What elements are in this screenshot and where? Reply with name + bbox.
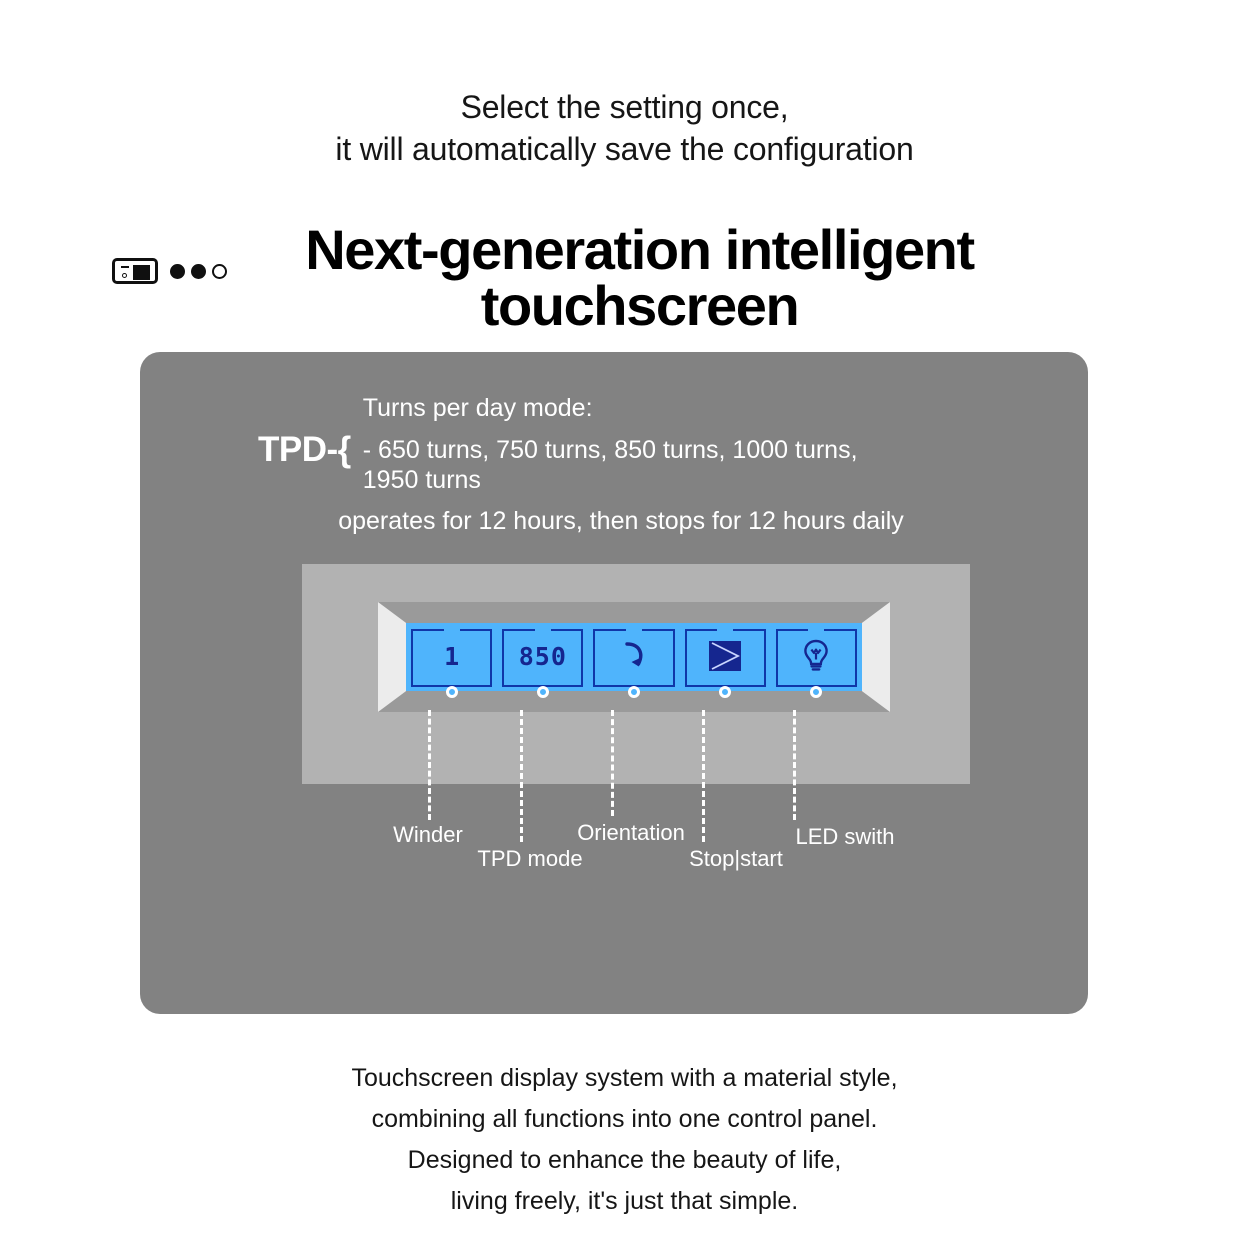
dot-filled-1 [170, 264, 185, 279]
touchscreen[interactable]: 1 850 [406, 623, 862, 691]
footer-line-2: combining all functions into one control… [0, 1099, 1249, 1140]
callout-label-stop-start: Stop|start [689, 846, 783, 872]
display-chip-icon [112, 258, 158, 284]
callout-label-orientation: Orientation [577, 820, 685, 846]
brand-mark [112, 258, 227, 284]
duty-cycle-text: operates for 12 hours, then stops for 12… [140, 507, 1088, 536]
button-winder[interactable]: 1 [406, 623, 497, 691]
button-orientation[interactable] [588, 623, 679, 691]
button-tpd-mode[interactable]: 850 [497, 623, 588, 691]
callout-label-tpd-mode: TPD mode [477, 846, 582, 872]
digit-one-icon: 1 [444, 644, 459, 669]
subtitle-line-2: it will automatically save the configura… [0, 128, 1249, 170]
callout-label-led-switch: LED swith [795, 824, 894, 850]
footer-line-4: living freely, it's just that simple. [0, 1181, 1249, 1222]
footer-line-3: Designed to enhance the beauty of life, [0, 1140, 1249, 1181]
screen-bezel: 1 850 [378, 602, 890, 712]
lightbulb-icon [801, 638, 831, 674]
tpd-tag: TPD-{ [258, 392, 351, 470]
dot-hollow-3 [212, 264, 227, 279]
subtitle-block: Select the setting once, it will automat… [0, 86, 1249, 170]
chip-dash [121, 266, 129, 268]
callout-node-winder [446, 686, 458, 698]
callout-node-led-switch [810, 686, 822, 698]
device-body: 1 850 [302, 564, 970, 784]
feature-card: TPD-{ Turns per day mode: - 650 turns, 7… [140, 352, 1088, 1014]
callout-node-stop-start [719, 686, 731, 698]
button-led-switch[interactable] [771, 623, 862, 691]
tpd-spec-block: TPD-{ Turns per day mode: - 650 turns, 7… [258, 392, 1048, 496]
tpd-values: - 650 turns, 750 turns, 850 turns, 1000 … [363, 435, 883, 496]
footer-line-1: Touchscreen display system with a materi… [0, 1058, 1249, 1099]
dot-filled-2 [191, 264, 206, 279]
leader-line-led-switch [793, 710, 796, 820]
leader-line-winder [428, 710, 431, 820]
callout-node-tpd-mode [537, 686, 549, 698]
chip-dot [122, 273, 127, 278]
tpd-text: Turns per day mode: - 650 turns, 750 tur… [351, 392, 883, 496]
leader-line-tpd-mode [520, 710, 523, 842]
headline-line-2: touchscreen [30, 278, 1249, 334]
callout-node-orientation [628, 686, 640, 698]
leader-line-stop-start [702, 710, 705, 842]
leader-line-orientation [611, 710, 614, 816]
footer-description: Touchscreen display system with a materi… [0, 1058, 1249, 1222]
progress-dots [170, 264, 227, 279]
rotation-arrow-icon [619, 639, 649, 673]
subtitle-line-1: Select the setting once, [0, 86, 1249, 128]
play-square-icon [708, 640, 742, 672]
tpd-heading: Turns per day mode: [363, 392, 883, 426]
chip-block [133, 265, 150, 280]
callout-label-winder: Winder [393, 822, 463, 848]
button-stop-start[interactable] [680, 623, 771, 691]
digits-850-icon: 850 [519, 644, 567, 669]
headline-row: Next-generation intelligent touchscreen [0, 222, 1249, 334]
